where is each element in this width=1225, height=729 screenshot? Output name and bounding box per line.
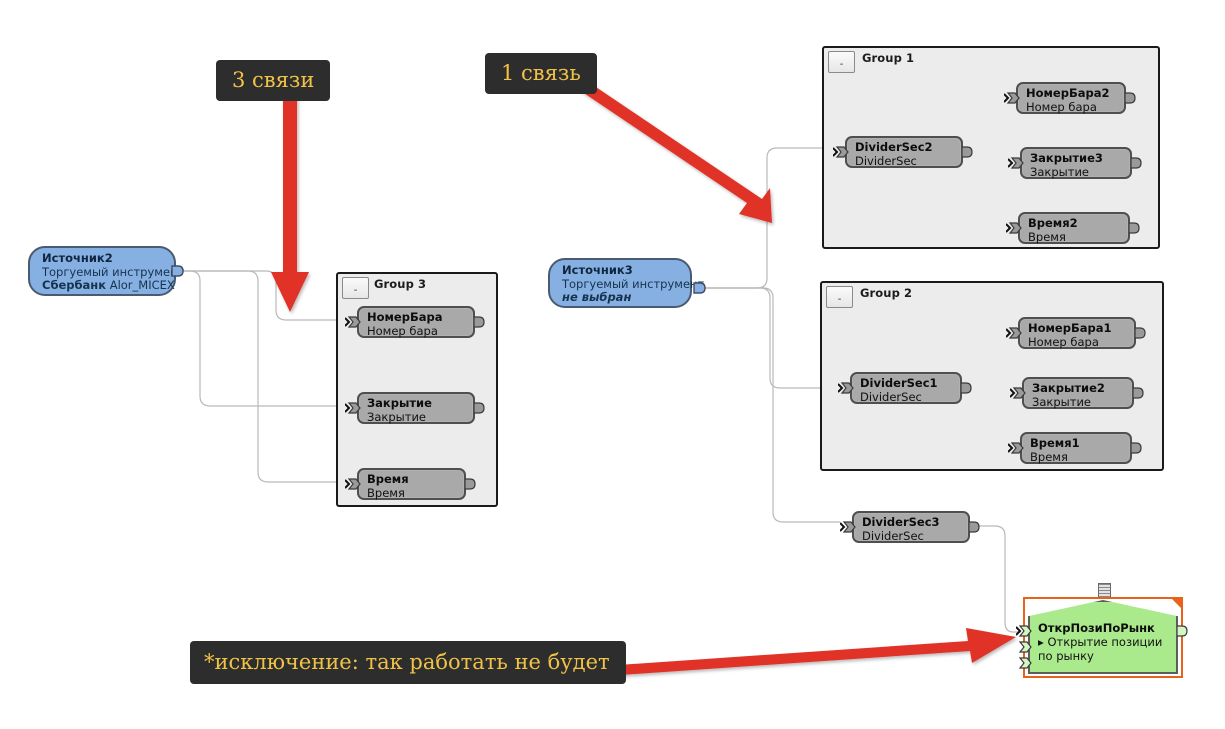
node-nomerbara[interactable]: НомерБара Номер бара bbox=[357, 306, 475, 338]
node-zakrytie[interactable]: Закрытие Закрытие bbox=[357, 392, 475, 424]
node-zakrytie3[interactable]: Закрытие3 Закрытие bbox=[1020, 147, 1132, 179]
node-description: Открытие позиции по рынку bbox=[1038, 635, 1162, 663]
node-subtitle: DividerSec bbox=[860, 391, 952, 405]
node-nomerbara1[interactable]: НомерБара1 Номер бара bbox=[1018, 317, 1136, 349]
output-port-zakrytie3[interactable] bbox=[1131, 156, 1144, 169]
node-dividersec3[interactable]: DividerSec3 DividerSec bbox=[852, 511, 970, 543]
node-subtitle: Время bbox=[1030, 451, 1122, 465]
node-subtitle: ▸ Открытие позиции по рынку bbox=[1038, 635, 1168, 663]
node-title: Время bbox=[367, 473, 456, 487]
node-istochnik2[interactable]: Источник2 Торгуемый инструмент Сбербанк … bbox=[28, 246, 176, 296]
output-port-zakrytie[interactable] bbox=[474, 401, 487, 414]
node-instrument: Сбербанк Alor_MICEX bbox=[42, 279, 162, 293]
node-nomerbara2[interactable]: НомерБара2 Номер бара bbox=[1016, 82, 1126, 114]
output-port-zakrytie2[interactable] bbox=[1133, 386, 1146, 399]
input-port-zakrytie[interactable] bbox=[345, 401, 358, 414]
node-dividersec1[interactable]: DividerSec1 DividerSec bbox=[850, 372, 962, 404]
node-subtitle: Торгуемый инструмент bbox=[42, 266, 162, 280]
input-port-dividersec1[interactable] bbox=[838, 381, 851, 394]
input-port-dividersec3[interactable] bbox=[840, 520, 853, 533]
input-port-zakrytie3[interactable] bbox=[1008, 156, 1021, 169]
node-drag-handle-icon[interactable] bbox=[1098, 583, 1111, 598]
node-subtitle: DividerSec bbox=[862, 530, 960, 544]
output-port-nomerbara2[interactable] bbox=[1125, 91, 1138, 104]
diagram-canvas: 3 связи 1 связь *исключение: так работат… bbox=[0, 0, 1225, 729]
node-istochnik3[interactable]: Источник3 Торгуемый инструмент не выбран bbox=[548, 258, 692, 308]
output-port-vremya[interactable] bbox=[465, 477, 478, 490]
output-port-vremya1[interactable] bbox=[1131, 441, 1144, 454]
node-title: DividerSec3 bbox=[862, 516, 960, 530]
node-vremya[interactable]: Время Время bbox=[357, 468, 466, 500]
node-subtitle: Время bbox=[1028, 231, 1120, 245]
node-zakrytie2[interactable]: Закрытие2 Закрытие bbox=[1022, 377, 1134, 409]
node-title: DividerSec2 bbox=[855, 141, 953, 155]
input-port-vremya1[interactable] bbox=[1008, 441, 1021, 454]
node-subtitle: Торгуемый инструмент bbox=[562, 278, 678, 292]
node-dividersec2[interactable]: DividerSec2 DividerSec bbox=[845, 136, 963, 168]
arrow-down-3-links bbox=[271, 97, 309, 312]
callout-text: 1 связь bbox=[501, 61, 581, 85]
node-subtitle: Закрытие bbox=[367, 411, 465, 425]
arrow-diagonal-1-link bbox=[566, 77, 772, 223]
node-instrument-name: Сбербанк bbox=[42, 278, 106, 292]
callout-text: *исключение: так работать не будет bbox=[204, 650, 610, 674]
node-subtitle: Время bbox=[367, 487, 456, 501]
group-2-title: Group 2 bbox=[860, 286, 912, 300]
input-port-otkrpozi-3[interactable] bbox=[1016, 656, 1029, 669]
node-subtitle: Номер бара bbox=[1028, 336, 1126, 350]
node-otkrpozipornk-text: ОткрПозиПоРынк ▸ Открытие позиции по рын… bbox=[1038, 621, 1168, 663]
output-port-dividersec1[interactable] bbox=[961, 381, 974, 394]
node-subtitle: DividerSec bbox=[855, 155, 953, 169]
node-title: Источник3 bbox=[562, 264, 678, 278]
node-title: НомерБара1 bbox=[1028, 322, 1126, 336]
arrow-right-exception bbox=[618, 628, 1016, 675]
callout-3-links: 3 связи bbox=[216, 60, 330, 101]
node-vremya1[interactable]: Время1 Время bbox=[1020, 432, 1132, 464]
output-port-istochnik2[interactable] bbox=[171, 264, 184, 277]
node-instrument-code: Alor_MICEX bbox=[110, 278, 175, 292]
node-title: Время1 bbox=[1030, 437, 1122, 451]
node-title: Закрытие bbox=[367, 397, 465, 411]
output-port-nomerbara[interactable] bbox=[474, 315, 487, 328]
selection-corner-icon bbox=[1170, 597, 1183, 610]
output-port-istochnik3[interactable] bbox=[693, 281, 706, 294]
input-port-otkrpozi-1[interactable] bbox=[1016, 624, 1029, 637]
node-title: НомерБара2 bbox=[1026, 87, 1116, 101]
node-title: Закрытие2 bbox=[1032, 382, 1124, 396]
group-1-collapse-button[interactable]: - bbox=[828, 51, 855, 73]
output-port-vremya2[interactable] bbox=[1129, 221, 1142, 234]
node-subtitle: Номер бара bbox=[1026, 101, 1116, 115]
node-title: НомерБара bbox=[367, 311, 465, 325]
input-port-zakrytie2[interactable] bbox=[1010, 386, 1023, 399]
node-subtitle: Закрытие bbox=[1032, 396, 1124, 410]
input-port-nomerbara[interactable] bbox=[345, 315, 358, 328]
node-title: Время2 bbox=[1028, 217, 1120, 231]
output-port-nomerbara1[interactable] bbox=[1135, 326, 1148, 339]
expander-icon[interactable]: ▸ bbox=[1038, 635, 1044, 649]
callout-exception: *исключение: так работать не будет bbox=[190, 641, 626, 684]
input-port-vremya[interactable] bbox=[345, 477, 358, 490]
input-port-nomerbara1[interactable] bbox=[1006, 326, 1019, 339]
group-1-title: Group 1 bbox=[862, 51, 914, 65]
output-port-dividersec2[interactable] bbox=[962, 145, 975, 158]
node-instrument: не выбран bbox=[562, 291, 678, 305]
node-title: ОткрПозиПоРынк bbox=[1038, 621, 1168, 635]
output-port-dividersec3[interactable] bbox=[969, 520, 982, 533]
input-port-nomerbara2[interactable] bbox=[1004, 91, 1017, 104]
node-title: Источник2 bbox=[42, 252, 162, 266]
callout-1-link: 1 связь bbox=[485, 53, 597, 94]
group-3-collapse-button[interactable]: - bbox=[342, 277, 369, 299]
group-2-collapse-button[interactable]: - bbox=[826, 286, 853, 308]
input-port-vremya2[interactable] bbox=[1006, 221, 1019, 234]
input-port-dividersec2[interactable] bbox=[833, 145, 846, 158]
node-title: Закрытие3 bbox=[1030, 152, 1122, 166]
output-port-otkrpozi[interactable] bbox=[1177, 624, 1190, 637]
node-subtitle: Закрытие bbox=[1030, 166, 1122, 180]
node-title: DividerSec1 bbox=[860, 377, 952, 391]
node-vremya2[interactable]: Время2 Время bbox=[1018, 212, 1130, 244]
group-3-title: Group 3 bbox=[374, 277, 426, 291]
input-port-otkrpozi-2[interactable] bbox=[1016, 640, 1029, 653]
callout-text: 3 связи bbox=[232, 68, 314, 92]
node-subtitle: Номер бара bbox=[367, 325, 465, 339]
